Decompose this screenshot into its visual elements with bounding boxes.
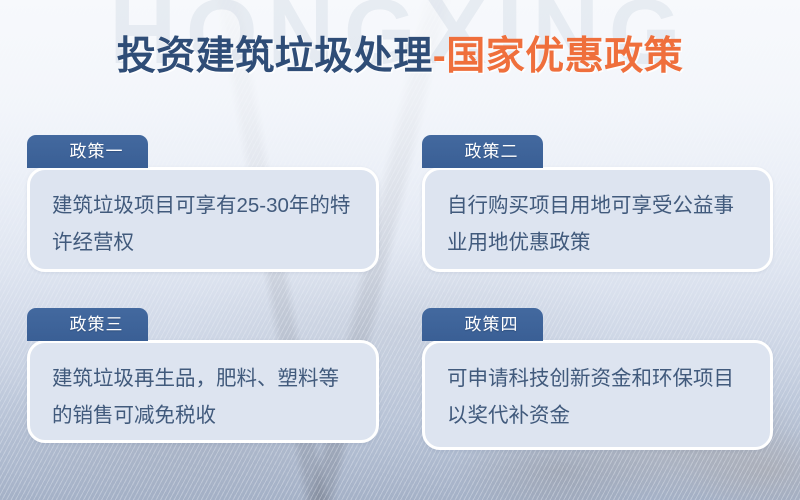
policy-card-1-body-text: 建筑垃圾项目可享有25-30年的特许经营权 <box>27 167 379 272</box>
page-title-main: 投资建筑垃圾处理 <box>117 35 433 78</box>
policy-card-1: 政策一 建筑垃圾项目可享有25-30年的特许经营权 <box>27 135 379 272</box>
policy-poster: HONGXING 投资建筑垃圾处理-国家优惠政策 政策一 建筑垃圾项目可享有25… <box>0 0 800 500</box>
policy-card-4-body-text: 可申请科技创新资金和环保项目以奖代补资金 <box>422 340 773 450</box>
policy-card-3-body-text: 建筑垃圾再生品，肥料、塑料等的销售可减免税收 <box>27 340 379 443</box>
policy-card-4: 政策四 可申请科技创新资金和环保项目以奖代补资金 <box>422 308 773 450</box>
page-title-accent: 国家优惠政策 <box>446 35 683 78</box>
page-title: 投资建筑垃圾处理-国家优惠政策 <box>117 35 684 79</box>
poster-title-wrapper: 投资建筑垃圾处理-国家优惠政策 <box>0 35 800 79</box>
policy-card-3-tab-label: 政策三 <box>27 308 148 341</box>
policy-card-2-body-text: 自行购买项目用地可享受公益事业用地优惠政策 <box>422 167 773 272</box>
policy-card-4-tab-label: 政策四 <box>422 308 543 341</box>
policy-card-3: 政策三 建筑垃圾再生品，肥料、塑料等的销售可减免税收 <box>27 308 379 443</box>
policy-card-2: 政策二 自行购买项目用地可享受公益事业用地优惠政策 <box>422 135 773 272</box>
page-title-dash: - <box>433 35 447 78</box>
policy-card-2-tab-label: 政策二 <box>422 135 543 168</box>
policy-card-1-tab-label: 政策一 <box>27 135 148 168</box>
